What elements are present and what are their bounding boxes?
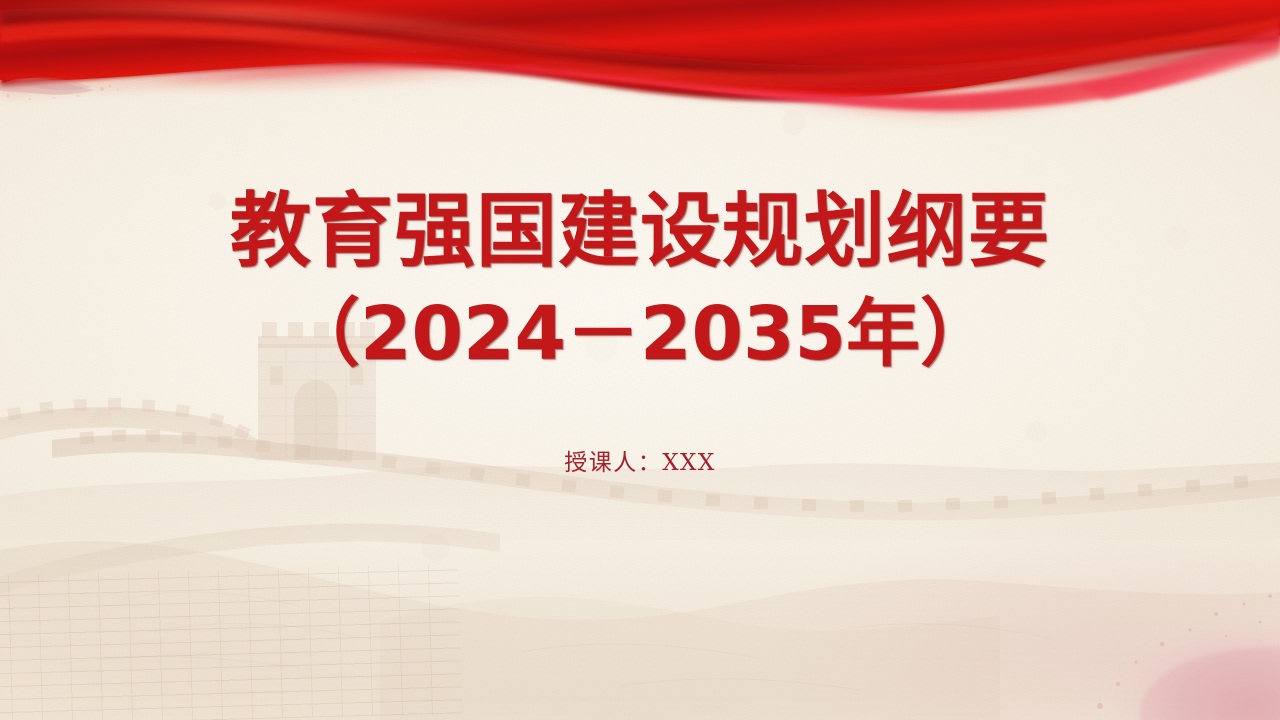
presenter-line: 授课人：XXX	[0, 443, 1280, 477]
page-title: 教育强国建设规划纲要	[0, 190, 1280, 274]
title-slide: 教育强国建设规划纲要 （2024－2035年） 授课人：XXX	[0, 0, 1280, 720]
page-subtitle-year-range: （2024－2035年）	[0, 296, 1280, 374]
title-text-block: 教育强国建设规划纲要 （2024－2035年） 授课人：XXX	[0, 0, 1280, 720]
